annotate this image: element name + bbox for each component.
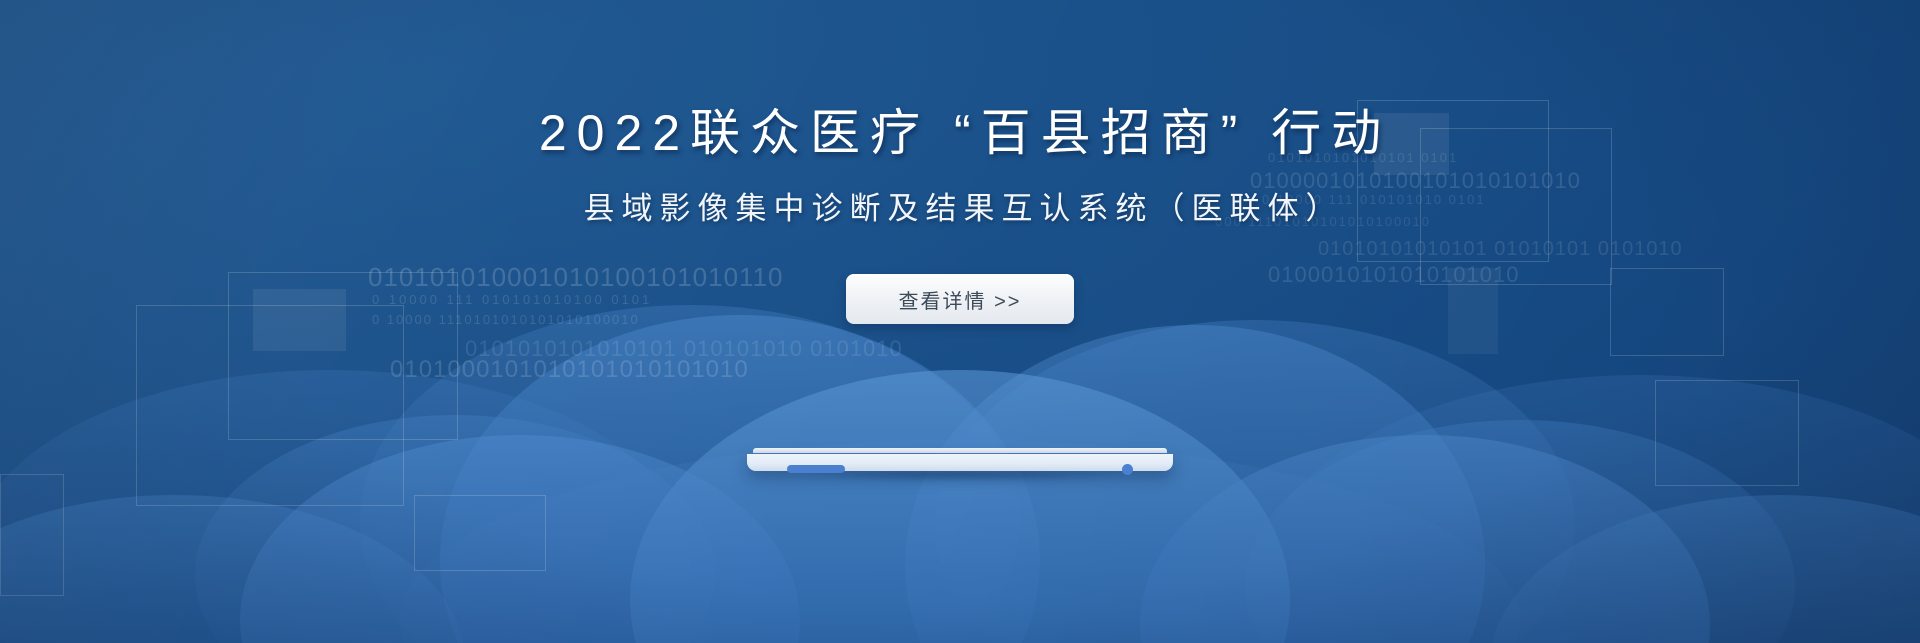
device-shadow (725, 472, 1195, 494)
speaker-grill-icon (787, 465, 845, 473)
laptop-body (747, 454, 1173, 471)
view-details-button[interactable]: 查看详情 >> (846, 274, 1074, 324)
banner-content: 2022联众医疗 “百县招商” 行动 县域影像集中诊断及结果互认系统（医联体） … (0, 0, 1920, 643)
laptop-base-graphic (747, 448, 1173, 474)
camera-dot-icon (1122, 464, 1133, 475)
laptop-screen-edge (753, 448, 1167, 453)
banner-title: 2022联众医疗 “百县招商” 行动 (529, 108, 1391, 158)
promo-banner: 010101010001010100101010110 0 10000 111 … (0, 0, 1920, 643)
banner-subtitle: 县域影像集中诊断及结果互认系统（医联体） (577, 193, 1344, 224)
